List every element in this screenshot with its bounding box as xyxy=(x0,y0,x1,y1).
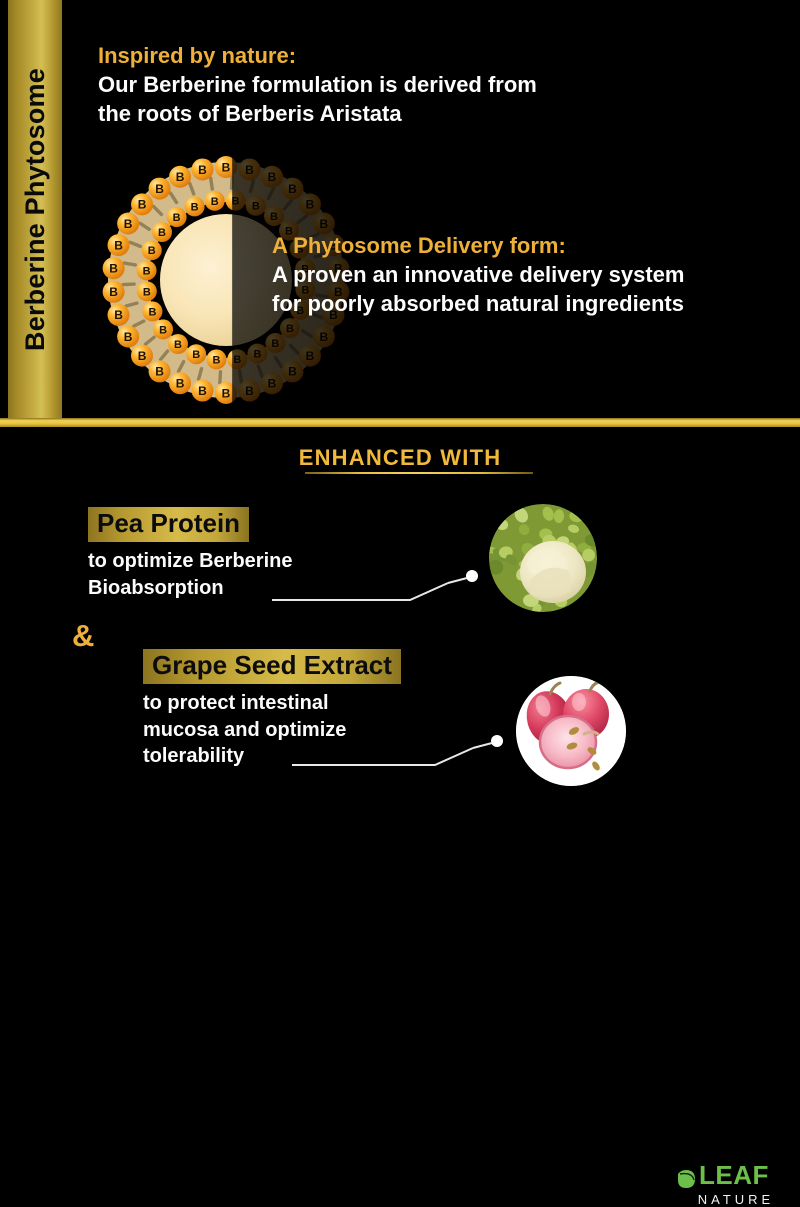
headline-phytosome-delivery: A Phytosome Delivery form: A proven an i… xyxy=(272,232,792,319)
pea-protein-image xyxy=(489,504,597,612)
enhanced-with-underline xyxy=(305,472,533,474)
ingredient-pea-protein: Pea Protein to optimize Berberine Bioabs… xyxy=(88,507,292,601)
gold-divider xyxy=(0,418,800,427)
enhanced-with-heading: ENHANCED WITH xyxy=(0,445,800,471)
logo-tagline: NATURE xyxy=(672,1192,784,1207)
sidebar-title-text: Berberine Phytosome xyxy=(20,68,51,351)
grape-seed-desc-1: to protect intestinal xyxy=(143,690,401,716)
headline-2-line-2: for poorly absorbed natural ingredients xyxy=(272,289,792,318)
leaf-b-icon xyxy=(672,1160,698,1190)
grape-seed-name: Grape Seed Extract xyxy=(143,649,401,684)
headline-inspired-by-nature: Inspired by nature: Our Berberine formul… xyxy=(98,42,718,129)
connector-line-pea-protein xyxy=(270,567,485,607)
headline-1-kicker: Inspired by nature: xyxy=(98,42,718,70)
logo-row: LEAF xyxy=(672,1160,784,1190)
enhanced-with-text: ENHANCED WITH xyxy=(299,445,502,470)
pea-protein-desc-1: to optimize Berberine xyxy=(88,548,292,574)
sidebar-title: Berberine Phytosome xyxy=(8,0,62,418)
pea-protein-desc-2: Bioabsorption xyxy=(88,575,292,601)
pea-protein-name: Pea Protein xyxy=(88,507,249,542)
top-panel: Berberine Phytosome xyxy=(0,0,800,418)
grape-seed-image xyxy=(516,676,626,786)
bottom-panel: ENHANCED WITH Pea Protein to optimize Be… xyxy=(0,427,800,800)
infographic-root: Berberine Phytosome xyxy=(0,0,800,800)
headline-2-kicker: A Phytosome Delivery form: xyxy=(272,232,792,260)
brand-logo: LEAF NATURE xyxy=(672,1160,784,1206)
headline-2-line-1: A proven an innovative delivery system xyxy=(272,260,792,289)
ampersand: & xyxy=(72,618,94,654)
ampersand-text: & xyxy=(72,618,94,653)
headline-1-line-2: the roots of Berberis Aristata xyxy=(98,99,718,128)
logo-leaf-text: LEAF xyxy=(699,1162,769,1188)
headline-1-line-1: Our Berberine formulation is derived fro… xyxy=(98,70,718,99)
connector-line-grape-seed xyxy=(290,732,515,772)
